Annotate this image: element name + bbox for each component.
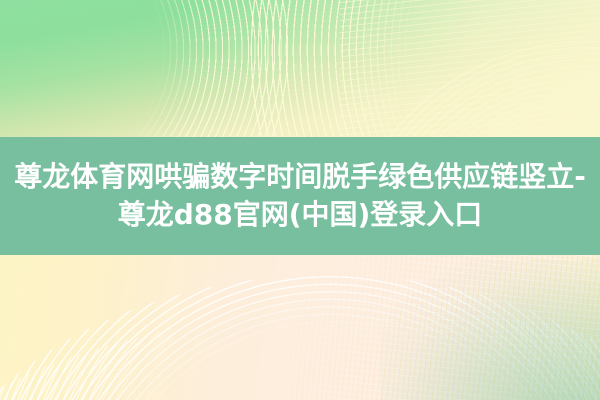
top-decorative-section [0,0,600,137]
corner-green-tint [380,260,600,400]
bottom-decorative-section [0,255,600,400]
ripple-lines-icon [340,0,600,137]
title-band: 尊龙体育网哄骗数字时间脱手绿色供应链竖立-尊龙d88官网(中国)登录入口 [0,137,600,255]
promo-banner: 尊龙体育网哄骗数字时间脱手绿色供应链竖立-尊龙d88官网(中国)登录入口 [0,0,600,400]
page-title: 尊龙体育网哄骗数字时间脱手绿色供应链竖立-尊龙d88官网(中国)登录入口 [1,158,599,233]
